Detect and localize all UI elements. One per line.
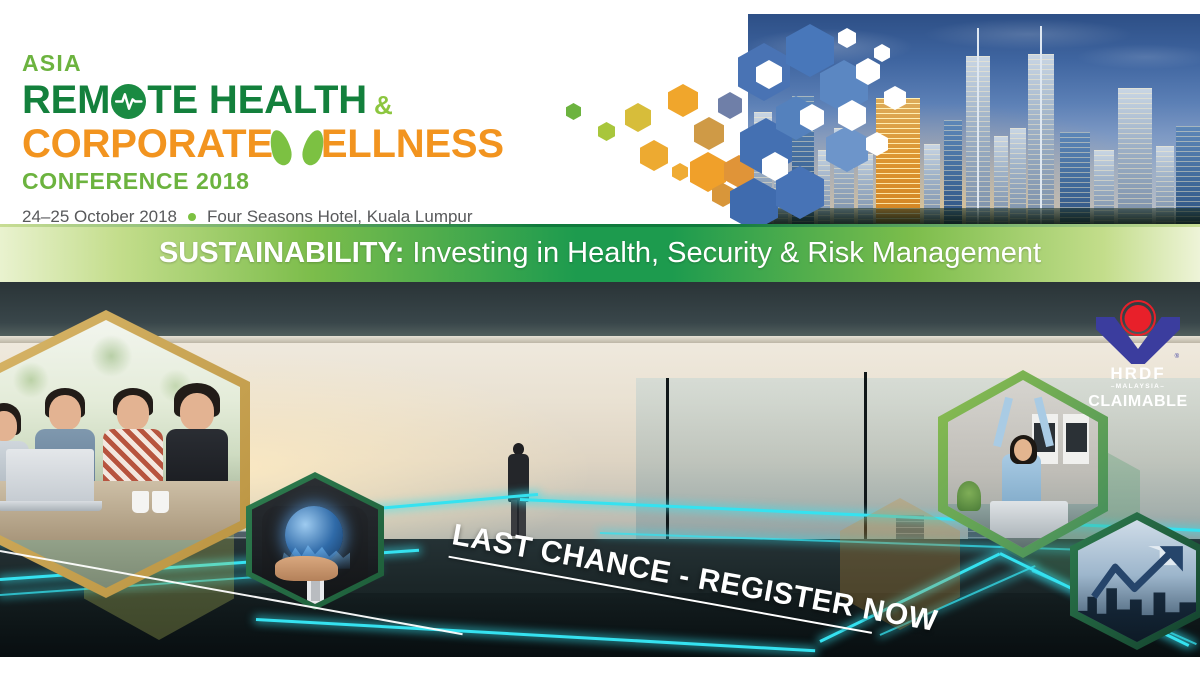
logo-corporate: CORPORATE [22, 124, 273, 164]
conference-banner: ASIA REM TE HEALTH & CORPORATE ELLNESS C… [0, 0, 1200, 675]
upward-trend-arrow-icon [1090, 544, 1187, 607]
logo-wellness-suffix: ELLNESS [321, 124, 504, 164]
logo-asia: ASIA [22, 52, 504, 75]
hrdf-status: CLAIMABLE [1086, 393, 1190, 411]
tagline-rest: Investing in Health, Security & Risk Man… [404, 237, 1041, 269]
logo-conference-year: CONFERENCE 2018 [22, 170, 504, 193]
hand [275, 556, 338, 581]
logo-ampersand: & [374, 92, 393, 118]
logo-remote-suffix: TE HEALTH [147, 80, 367, 120]
logo-line-remote-health: REM TE HEALTH & [22, 80, 504, 120]
tagline-top-rule [0, 224, 1200, 227]
green-bullet-dot [188, 213, 196, 221]
event-logo: ASIA REM TE HEALTH & CORPORATE ELLNESS C… [22, 52, 504, 224]
coffee-cup [132, 491, 149, 513]
two-leaves-icon [275, 127, 319, 165]
banner-header: ASIA REM TE HEALTH & CORPORATE ELLNESS C… [0, 0, 1200, 224]
hrdf-country: –MALAYSIA– [1086, 383, 1190, 390]
event-venue: Four Seasons Hotel, Kuala Lumpur [207, 207, 473, 224]
hrdf-name: HRDF [1086, 365, 1190, 383]
hrdf-claimable-badge: ® HRDF –MALAYSIA– CLAIMABLE [1086, 300, 1190, 412]
coffee-cup [152, 491, 169, 513]
registered-mark: ® [1175, 354, 1179, 360]
logo-line-corporate-wellness: CORPORATE ELLNESS [22, 124, 504, 164]
bottom-white-strip [0, 657, 1200, 675]
ceiling-slab [0, 282, 1200, 340]
event-meta: 24–25 October 2018 Four Seasons Hotel, K… [22, 207, 504, 224]
hrdf-logo: ® [1096, 300, 1180, 364]
desk-plant [957, 481, 981, 511]
tagline-text: SUSTAINABILITY: Investing in Health, Sec… [159, 237, 1041, 270]
hrdf-red-dot [1125, 305, 1152, 332]
businessman-silhouette [506, 443, 530, 535]
logo-remote-prefix: REM [22, 80, 110, 120]
ceiling-lip [0, 336, 1200, 343]
hero-image: ® HRDF –MALAYSIA– CLAIMABLE LAST CHANCE … [0, 282, 1200, 657]
heartbeat-pulse-icon [111, 84, 146, 119]
tagline-emphasis: SUSTAINABILITY: [159, 237, 404, 269]
tagline-bar: SUSTAINABILITY: Investing in Health, Sec… [0, 224, 1200, 282]
event-dates: 24–25 October 2018 [22, 207, 177, 224]
laptop [0, 449, 102, 513]
